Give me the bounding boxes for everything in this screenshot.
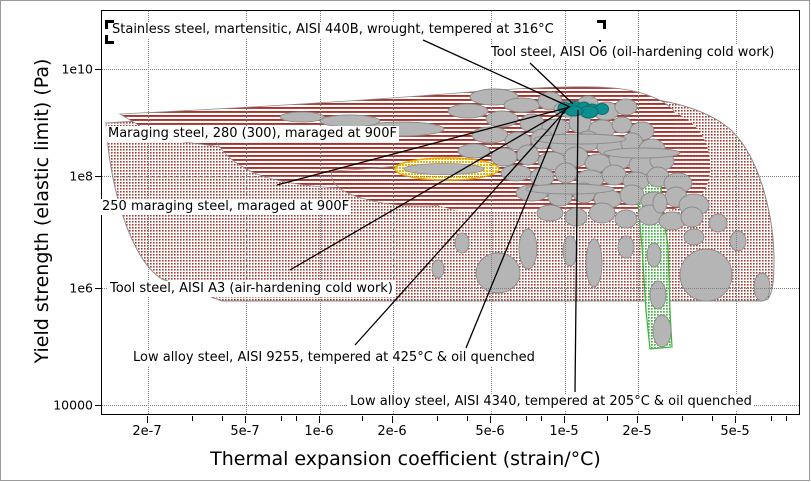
ytick-label-1e6: 1e6 [69, 281, 93, 296]
gridline-y-1e8 [102, 176, 799, 177]
gridline-x-2e-5 [638, 11, 639, 414]
xtick-minor-1-5e-5 [607, 416, 608, 421]
xtick-minor-4e-7 [222, 416, 223, 421]
annotation-low-alloy-9255[interactable]: Low alloy steel, AISI 9255, tempered at … [131, 350, 537, 366]
xtick-minor-7e-5 [771, 416, 772, 421]
xtick-minor-8e-5 [786, 416, 787, 421]
gridline-y-1e10 [102, 69, 799, 70]
xtick-minor-1-5e-6 [362, 416, 363, 421]
xtick-2e-5 [637, 416, 638, 423]
xtick-label-2e-6: 2e-6 [377, 424, 406, 439]
xtick-label-5e-7: 5e-7 [230, 424, 259, 439]
xtick-2e-6 [392, 416, 393, 423]
y-axis-title: Yield strength (elastic limit) (Pa) [31, 11, 53, 411]
annotation-low-alloy-4340[interactable]: Low alloy steel, AISI 4340, tempered at … [348, 394, 754, 410]
xtick-label-2e-7: 2e-7 [132, 424, 161, 439]
selection-handle-top-right[interactable] [597, 20, 606, 29]
xtick-minor-3e-6 [437, 416, 438, 421]
xtick-minor-7e-7 [281, 416, 282, 421]
xtick-label-5e-5: 5e-5 [720, 424, 749, 439]
xtick-minor-3e-5 [682, 416, 683, 421]
annotation-tool-steel-o6[interactable]: Tool steel, AISI O6 (oil-hardening cold … [489, 45, 776, 61]
xtick-minor-8e-7 [296, 416, 297, 421]
xtick-1e-6 [319, 416, 320, 423]
ytick-label-1e10: 1e10 [61, 62, 93, 77]
x-axis-title: Thermal expansion coefficient (strain/°C… [0, 448, 811, 470]
ytick-1e8 [95, 176, 101, 177]
gridline-x-1e-5 [565, 11, 566, 414]
xtick-label-1e-6: 1e-6 [304, 424, 333, 439]
xtick-minor-3e-7 [192, 416, 193, 421]
annotation-stainless-440b[interactable]: Stainless steel, martensitic, AISI 440B,… [110, 22, 556, 38]
xtick-label-2e-5: 2e-5 [622, 424, 651, 439]
xtick-minor-7e-6 [526, 416, 527, 421]
ytick-1e6 [95, 288, 101, 289]
xtick-5e-7 [245, 416, 246, 423]
annotation-maraging-280[interactable]: Maraging steel, 280 (300), maraged at 90… [106, 126, 399, 142]
ytick-label-1e8: 1e8 [69, 169, 93, 184]
selection-handle-bottom-left[interactable] [105, 35, 114, 44]
xtick-5e-5 [735, 416, 736, 423]
xtick-2e-7 [147, 416, 148, 423]
xtick-5e-6 [490, 416, 491, 423]
selection-handle-top-left[interactable] [105, 20, 114, 29]
chart-root: Stainless steel, martensitic, AISI 440B,… [0, 0, 811, 482]
xtick-label-1e-5: 1e-5 [549, 424, 578, 439]
xtick-label-5e-6: 5e-6 [475, 424, 504, 439]
xtick-minor-4e-6 [467, 416, 468, 421]
xtick-minor-8e-6 [541, 416, 542, 421]
ytick-label-10000: 10000 [53, 398, 93, 413]
xtick-minor-4e-5 [712, 416, 713, 421]
annotation-250-maraging[interactable]: 250 maraging steel, maraged at 900F [100, 199, 351, 215]
ytick-1e10 [95, 69, 101, 70]
xtick-1e-5 [564, 416, 565, 423]
annotation-tool-steel-a3[interactable]: Tool steel, AISI A3 (air-hardening cold … [108, 281, 395, 297]
ytick-10000 [95, 405, 101, 406]
selection-dot-bottom-right [599, 40, 601, 42]
gridline-x-5e-5 [736, 11, 737, 414]
